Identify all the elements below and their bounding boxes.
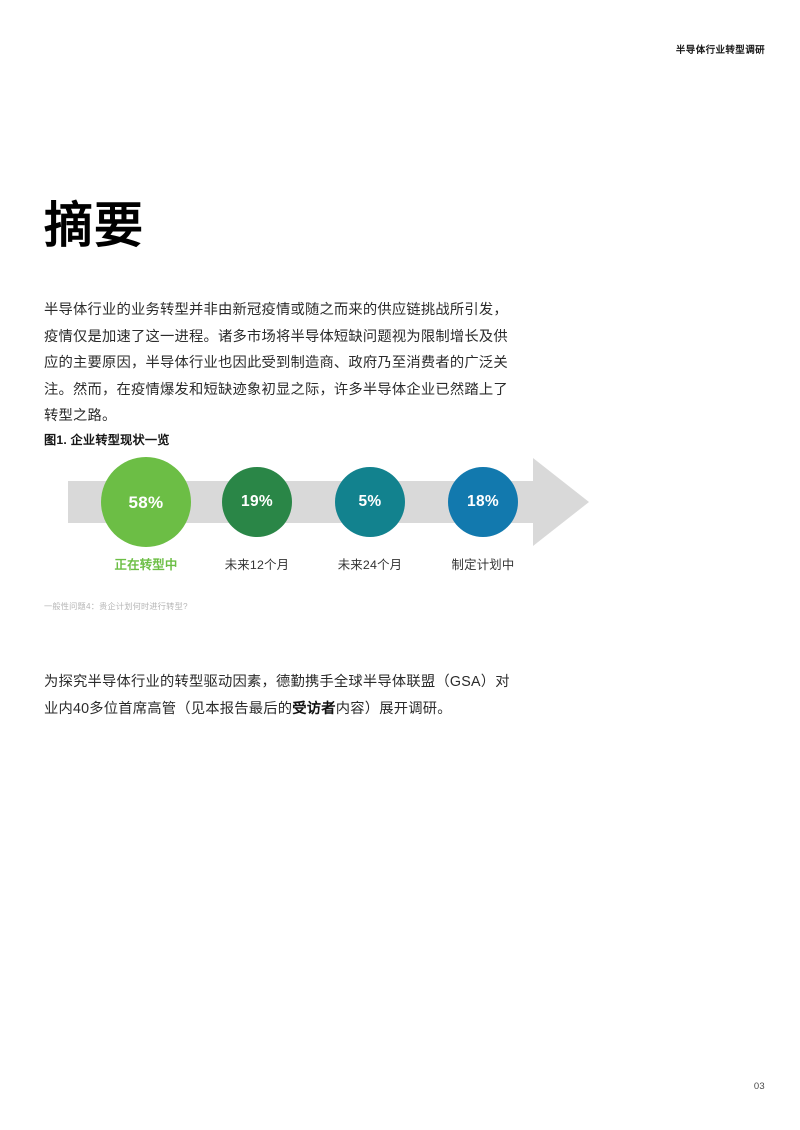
bubble-category-label: 制定计划中 (448, 555, 518, 573)
figure-caption: 图1. 企业转型现状一览 (44, 430, 170, 448)
page-number: 03 (754, 1081, 765, 1092)
bubble-item: 19% (222, 467, 292, 537)
bubble-value: 58% (129, 494, 164, 511)
outro-text-part2: 内容）展开调研。 (336, 701, 452, 717)
bubble-item: 18% (448, 467, 518, 537)
document-page: 半导体行业转型调研 摘要 半导体行业的业务转型并非由新冠疫情或随之而来的供应链挑… (0, 0, 800, 1130)
bubble-item: 58% (101, 457, 191, 547)
bubble-label-row: 正在转型中 未来12个月 未来24个月 制定计划中 (44, 555, 604, 581)
bubble-category-label: 未来24个月 (335, 555, 405, 573)
outro-text-emphasis: 受访者 (292, 701, 336, 717)
running-header: 半导体行业转型调研 (676, 42, 765, 56)
bubble-series: 58% 19% 5% 18% (44, 455, 604, 555)
bubble-value: 18% (467, 494, 499, 510)
figure-transformation-status: 58% 19% 5% 18% 正在转型中 未来12个月 未来24个月 制定计划中 (44, 455, 604, 605)
bubble-value: 5% (358, 494, 381, 510)
bubble-category-label: 未来12个月 (222, 555, 292, 573)
figure-source-note: 一般性问题4：贵企计划何时进行转型? (44, 600, 188, 612)
bubble-category-label: 正在转型中 (101, 555, 191, 573)
bubble-item: 5% (335, 467, 405, 537)
page-title: 摘要 (44, 201, 144, 252)
intro-paragraph: 半导体行业的业务转型并非由新冠疫情或随之而来的供应链挑战所引发，疫情仅是加速了这… (44, 297, 514, 430)
bubble-value: 19% (241, 494, 273, 510)
outro-paragraph: 为探究半导体行业的转型驱动因素，德勤携手全球半导体联盟（GSA）对业内40多位首… (44, 669, 524, 722)
